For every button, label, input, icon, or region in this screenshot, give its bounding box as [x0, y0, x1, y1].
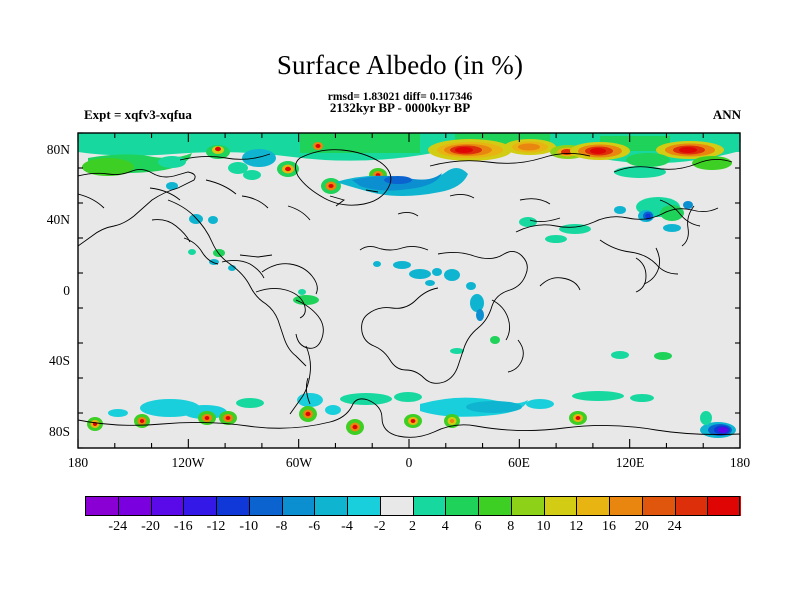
- colorbar-band-11: [445, 496, 478, 516]
- ytick-label-0: 0: [26, 283, 70, 299]
- colorbar-band-0: [85, 496, 118, 516]
- colorbar-band-15: [576, 496, 609, 516]
- colorbar-band-6: [282, 496, 315, 516]
- colorbar-band-8: [347, 496, 380, 516]
- colorbar-band-13: [511, 496, 544, 516]
- colorbar-band-17: [642, 496, 675, 516]
- colorbar-band-9: [380, 496, 413, 516]
- ytick-label-40s: 40S: [26, 353, 70, 369]
- colorbar: [85, 496, 740, 516]
- colorbar-band-14: [544, 496, 577, 516]
- xtick-label-120w: 120W: [158, 455, 218, 471]
- ytick-label-40n: 40N: [26, 212, 70, 228]
- xtick-label-180w: 180: [48, 455, 108, 471]
- xtick-label-60w: 60W: [269, 455, 329, 471]
- climate-anomaly-figure: Surface Albedo (in %) rmsd= 1.83021 diff…: [0, 0, 800, 600]
- colorbar-band-3: [183, 496, 216, 516]
- colorbar-band-5: [249, 496, 282, 516]
- xtick-label-180e: 180: [710, 455, 770, 471]
- colorbar-band-10: [413, 496, 446, 516]
- ytick-label-80s: 80S: [26, 424, 70, 440]
- xtick-label-120e: 120E: [600, 455, 660, 471]
- colorbar-band-4: [216, 496, 249, 516]
- colorbar-band-12: [478, 496, 511, 516]
- xtick-label-0: 0: [379, 455, 439, 471]
- xtick-label-60e: 60E: [489, 455, 549, 471]
- colorbar-band-2: [151, 496, 184, 516]
- colorbar-band-16: [609, 496, 642, 516]
- colorbar-band-7: [314, 496, 347, 516]
- colorbar-tick-label-17: 24: [652, 519, 698, 535]
- colorbar-band-19: [707, 496, 740, 516]
- ytick-label-80n: 80N: [26, 142, 70, 158]
- colorbar-band-18: [675, 496, 708, 516]
- colorbar-band-1: [118, 496, 151, 516]
